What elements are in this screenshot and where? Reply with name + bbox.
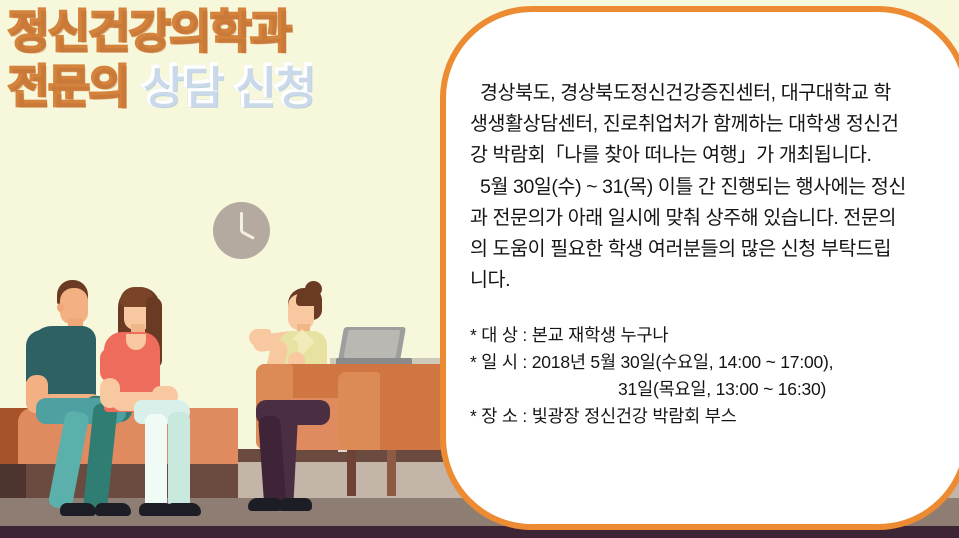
title-line-2-part-2: 상담 신청 — [141, 59, 314, 114]
detail-date-line-2: 31일(목요일, 13:00 ~ 16:30) — [470, 376, 908, 403]
title-line-2-part-1-text: 전문의 — [8, 61, 129, 112]
woman-shoe-near — [139, 503, 174, 516]
sofa-base — [0, 464, 238, 498]
body-paragraph-2: 5월 30일(수) ~ 31(목) 이틀 간 진행되는 행사에는 정신과 전문의… — [470, 172, 908, 296]
woman-shin-far — [168, 412, 190, 510]
man-shoe-far — [95, 503, 131, 516]
armchair-arm-right — [338, 372, 380, 450]
laptop-screen-inner — [344, 330, 401, 358]
detail-place: * 장 소 : 빛광장 정신건강 박람회 부스 — [470, 403, 908, 430]
counselor-hair-front — [296, 288, 322, 306]
info-speech-bubble: 경상북도, 경상북도정신건강증진센터, 대구대학교 학생생활상담센터, 진로취업… — [440, 6, 959, 530]
armchair-leg-mid — [347, 448, 356, 496]
counselor-hand — [249, 329, 271, 346]
poster-title: 정신건강의학과 전문의 상담 신청 — [8, 4, 458, 114]
woman-shin-near — [145, 414, 167, 510]
detail-target: * 대 상 : 본교 재학생 누구나 — [470, 322, 908, 349]
wall-clock-icon — [213, 202, 270, 259]
sofa-base-shadow — [0, 464, 26, 498]
title-line-2-part-1: 전문의 — [8, 59, 129, 114]
title-line-1-text: 정신건강의학과 — [8, 6, 291, 57]
body-paragraph-1: 경상북도, 경상북도정신건강증진센터, 대구대학교 학생생활상담센터, 진로취업… — [470, 78, 908, 171]
title-line-1: 정신건강의학과 — [8, 4, 458, 59]
poster-canvas: 정신건강의학과 전문의 상담 신청 경상북도, 경상북도정신건강증진센터, 대구… — [0, 0, 959, 538]
armchair-leg-back — [387, 448, 396, 496]
event-details-list: * 대 상 : 본교 재학생 누구나 * 일 시 : 2018년 5월 30일(… — [470, 322, 908, 430]
woman-sleeve — [100, 348, 122, 382]
man-ear — [57, 303, 64, 312]
counselor-shoe-back — [278, 498, 312, 511]
detail-date-line-1: * 일 시 : 2018년 5월 30일(수요일, 14:00 ~ 17:00)… — [470, 349, 908, 376]
title-line-2: 전문의 상담 신청 — [8, 59, 458, 114]
bubble-content: 경상북도, 경상북도정신건강증진센터, 대구대학교 학생생활상담센터, 진로취업… — [470, 78, 908, 430]
clock-hand-minute — [240, 212, 243, 232]
clock-hand-hour — [240, 230, 255, 240]
title-line-2-part-2-text: 상담 신청 — [141, 61, 314, 112]
counselor-shoe-front — [248, 498, 282, 511]
man-shoe-near — [60, 503, 96, 516]
